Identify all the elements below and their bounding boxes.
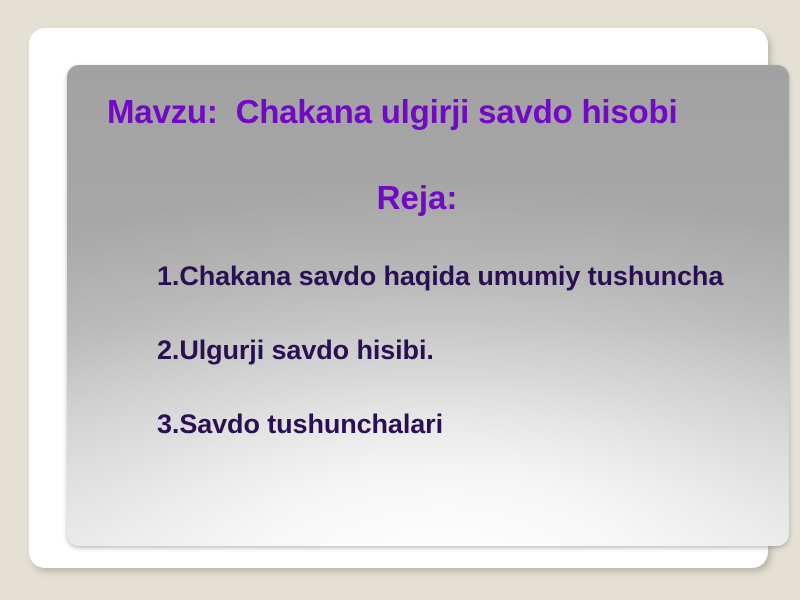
list-item: 1.Chakana savdo haqida umumiy tushuncha xyxy=(157,259,757,295)
slide-stage: Mavzu: Chakana ulgirji savdo hisobi Reja… xyxy=(0,0,800,600)
slide-text-layer: Mavzu: Chakana ulgirji savdo hisobi Reja… xyxy=(67,65,789,546)
agenda-list: 1.Chakana savdo haqida umumiy tushuncha … xyxy=(157,259,757,443)
list-item: 3.Savdo tushunchalari xyxy=(157,407,757,443)
agenda-heading: Reja: xyxy=(107,178,727,218)
page-title: Mavzu: Chakana ulgirji savdo hisobi xyxy=(107,91,747,133)
list-item: 2.Ulgurji savdo hisibi. xyxy=(157,333,757,369)
slide-frame: Mavzu: Chakana ulgirji savdo hisobi Reja… xyxy=(29,28,768,568)
slide-content-panel: Mavzu: Chakana ulgirji savdo hisobi Reja… xyxy=(67,65,789,546)
